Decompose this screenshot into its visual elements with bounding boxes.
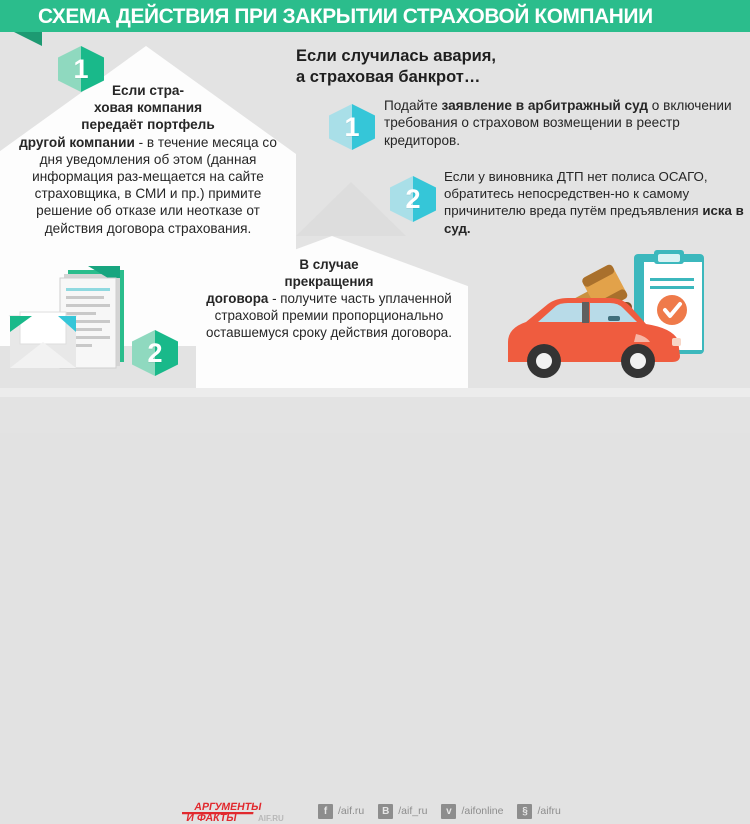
- logo-suffix: AIF.RU: [258, 814, 284, 823]
- twitter-icon: ᴠ: [441, 804, 456, 819]
- envelope: [10, 312, 76, 368]
- facebook-icon: f: [318, 804, 333, 819]
- header-banner: СХЕМА ДЕЙСТВИЯ ПРИ ЗАКРЫТИИ СТРАХОВОЙ КО…: [0, 0, 750, 36]
- right-item-1-text: Подайте заявление в арбитражный суд о вк…: [384, 97, 750, 149]
- vk-icon: B: [378, 804, 393, 819]
- social-link-facebook[interactable]: f /aif.ru: [318, 804, 364, 819]
- right-item-2-text: Если у виновника ДТП нет полиса ОСАГО, о…: [444, 168, 744, 237]
- social-handle: /aifonline: [461, 805, 503, 817]
- badge-number: 1: [329, 104, 375, 150]
- badge-number: 2: [132, 330, 178, 376]
- badge-left-1: 1: [58, 46, 104, 92]
- car-gavel-clipboard-illustration: [486, 250, 748, 395]
- header-left-cap: [0, 0, 30, 32]
- social-link-odnoklassniki[interactable]: § /aifru: [517, 804, 560, 819]
- infographic-canvas: СХЕМА ДЕЙСТВИЯ ПРИ ЗАКРЫТИИ СТРАХОВОЙ КО…: [0, 0, 750, 433]
- badge-center-2: 2: [132, 330, 178, 376]
- social-links: f /aif.ru B /aif_ru ᴠ /aifonline § /aifr…: [318, 802, 561, 820]
- aif-logo: АРГУМЕНТЫ И ФАКТЫ AIF.RU: [182, 798, 300, 824]
- badge-right-2: 2: [390, 176, 436, 222]
- center-block-text: В случаепрекращениядоговора - получите ч…: [196, 256, 462, 341]
- footer: АРГУМЕНТЫ И ФАКТЫ AIF.RU f /aif.ru B /ai…: [0, 397, 750, 433]
- badge-number: 2: [390, 176, 436, 222]
- footer-divider: [0, 388, 750, 397]
- page-title: СХЕМА ДЕЙСТВИЯ ПРИ ЗАКРЫТИИ СТРАХОВОЙ КО…: [38, 3, 723, 30]
- right-column-heading: Если случилась авария,а страховая банкро…: [296, 46, 716, 87]
- odnoklassniki-icon: §: [517, 804, 532, 819]
- social-handle: /aifru: [537, 805, 560, 817]
- social-link-twitter[interactable]: ᴠ /aifonline: [441, 804, 503, 819]
- social-handle: /aif_ru: [398, 805, 427, 817]
- left-column-text: Если стра‑ховая компанияпередаёт портфел…: [12, 82, 284, 237]
- badge-number: 1: [58, 46, 104, 92]
- badge-right-1: 1: [329, 104, 375, 150]
- social-link-vk[interactable]: B /aif_ru: [378, 804, 427, 819]
- social-handle: /aif.ru: [338, 805, 364, 817]
